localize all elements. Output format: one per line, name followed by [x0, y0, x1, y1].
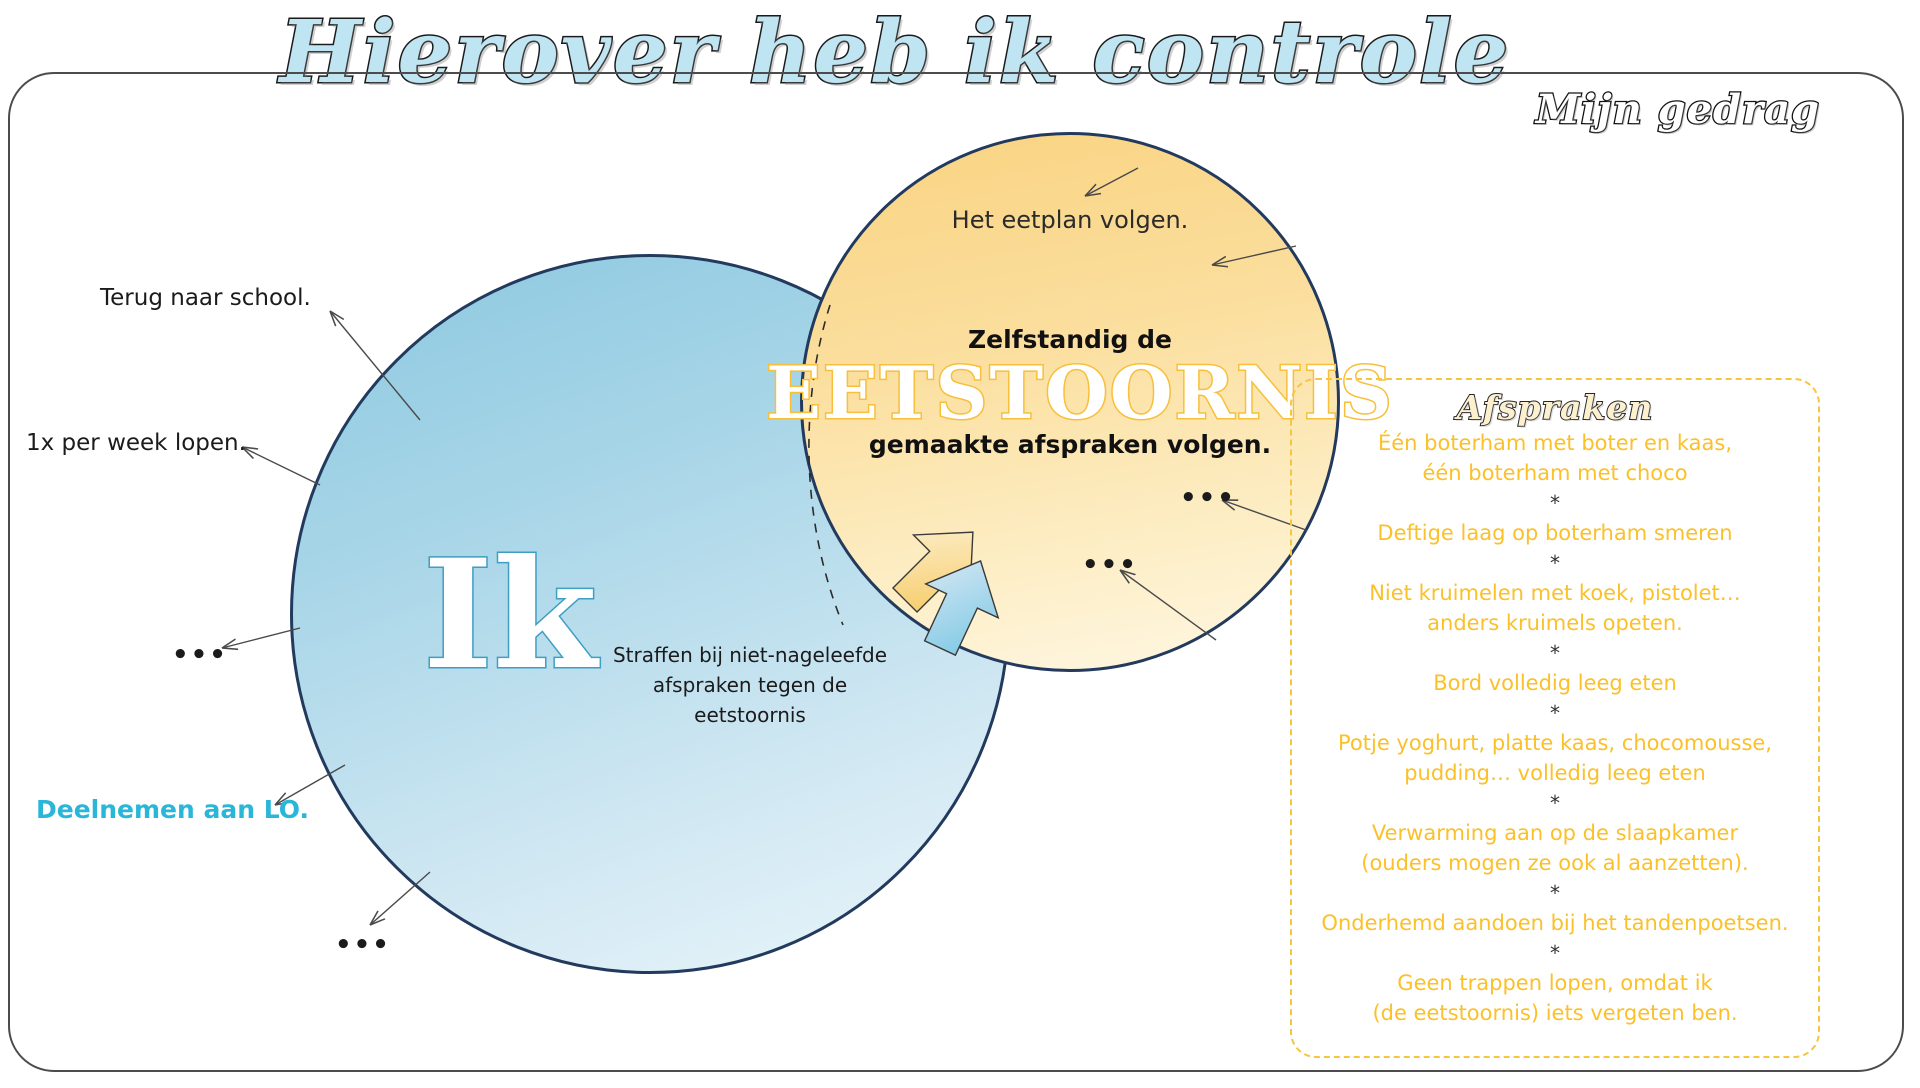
afspraken-separator: * [1295, 938, 1815, 968]
overlap-note-line2: afspraken tegen de eetstoornis [600, 670, 900, 730]
orange-item-afspraken: Zelfstandig de gemaakte afspraken volgen… [800, 252, 1340, 532]
afspraken-item-line: (de eetstoornis) iets vergeten ben. [1295, 998, 1815, 1028]
poster-canvas: Hierover heb ik controle Mijn gedrag [0, 0, 1920, 1088]
afspraken-item-line: anders kruimels opeten. [1295, 608, 1815, 638]
label-terug-naar-school: Terug naar school. [100, 285, 311, 311]
afspraken-item-line: Verwarming aan op de slaapkamer [1295, 818, 1815, 848]
afspraken-item-line: Één boterham met boter en kaas, [1295, 428, 1815, 458]
orange-item-afspraken-line1: Zelfstandig de [800, 322, 1340, 357]
orange-item-eetplan: Het eetplan volgen. [800, 206, 1340, 234]
afspraken-separator: * [1295, 788, 1815, 818]
afspraken-item-line: Bord volledig leeg eten [1295, 668, 1815, 698]
overlap-note: Straffen bij niet-nageleefde afspraken t… [600, 640, 900, 730]
afspraken-list: Één boterham met boter en kaas,één boter… [1295, 428, 1815, 1028]
label-dots-inside-upper: ••• [1180, 483, 1236, 513]
label-dots-bottom: ••• [335, 930, 391, 960]
afspraken-separator: * [1295, 548, 1815, 578]
orange-item-afspraken-line2: gemaakte afspraken volgen. [800, 427, 1340, 462]
overlap-note-line1: Straffen bij niet-nageleefde [600, 640, 900, 670]
afspraken-separator: * [1295, 488, 1815, 518]
afspraken-item-line: Geen trappen lopen, omdat ik [1295, 968, 1815, 998]
label-dots-inside-lower: ••• [1082, 550, 1138, 580]
label-deelnemen-aan-lo: Deelnemen aan LO. [36, 795, 309, 824]
afspraken-item-line: één boterham met choco [1295, 458, 1815, 488]
afspraken-separator: * [1295, 878, 1815, 908]
afspraken-item-line: pudding… volledig leeg eten [1295, 758, 1815, 788]
afspraken-item-line: (ouders mogen ze ook al aanzetten). [1295, 848, 1815, 878]
afspraken-item-line: Deftige laag op boterham smeren [1295, 518, 1815, 548]
afspraken-separator: * [1295, 638, 1815, 668]
afspraken-panel-title: Afspraken [1290, 388, 1820, 427]
afspraken-item-line: Niet kruimelen met koek, pistolet… [1295, 578, 1815, 608]
afspraken-item-line: Onderhemd aandoen bij het tandenpoetsen. [1295, 908, 1815, 938]
label-1x-per-week-lopen: 1x per week lopen. [26, 430, 246, 456]
afspraken-item-line: Potje yoghurt, platte kaas, chocomousse, [1295, 728, 1815, 758]
afspraken-separator: * [1295, 698, 1815, 728]
label-dots-left: ••• [172, 640, 228, 670]
